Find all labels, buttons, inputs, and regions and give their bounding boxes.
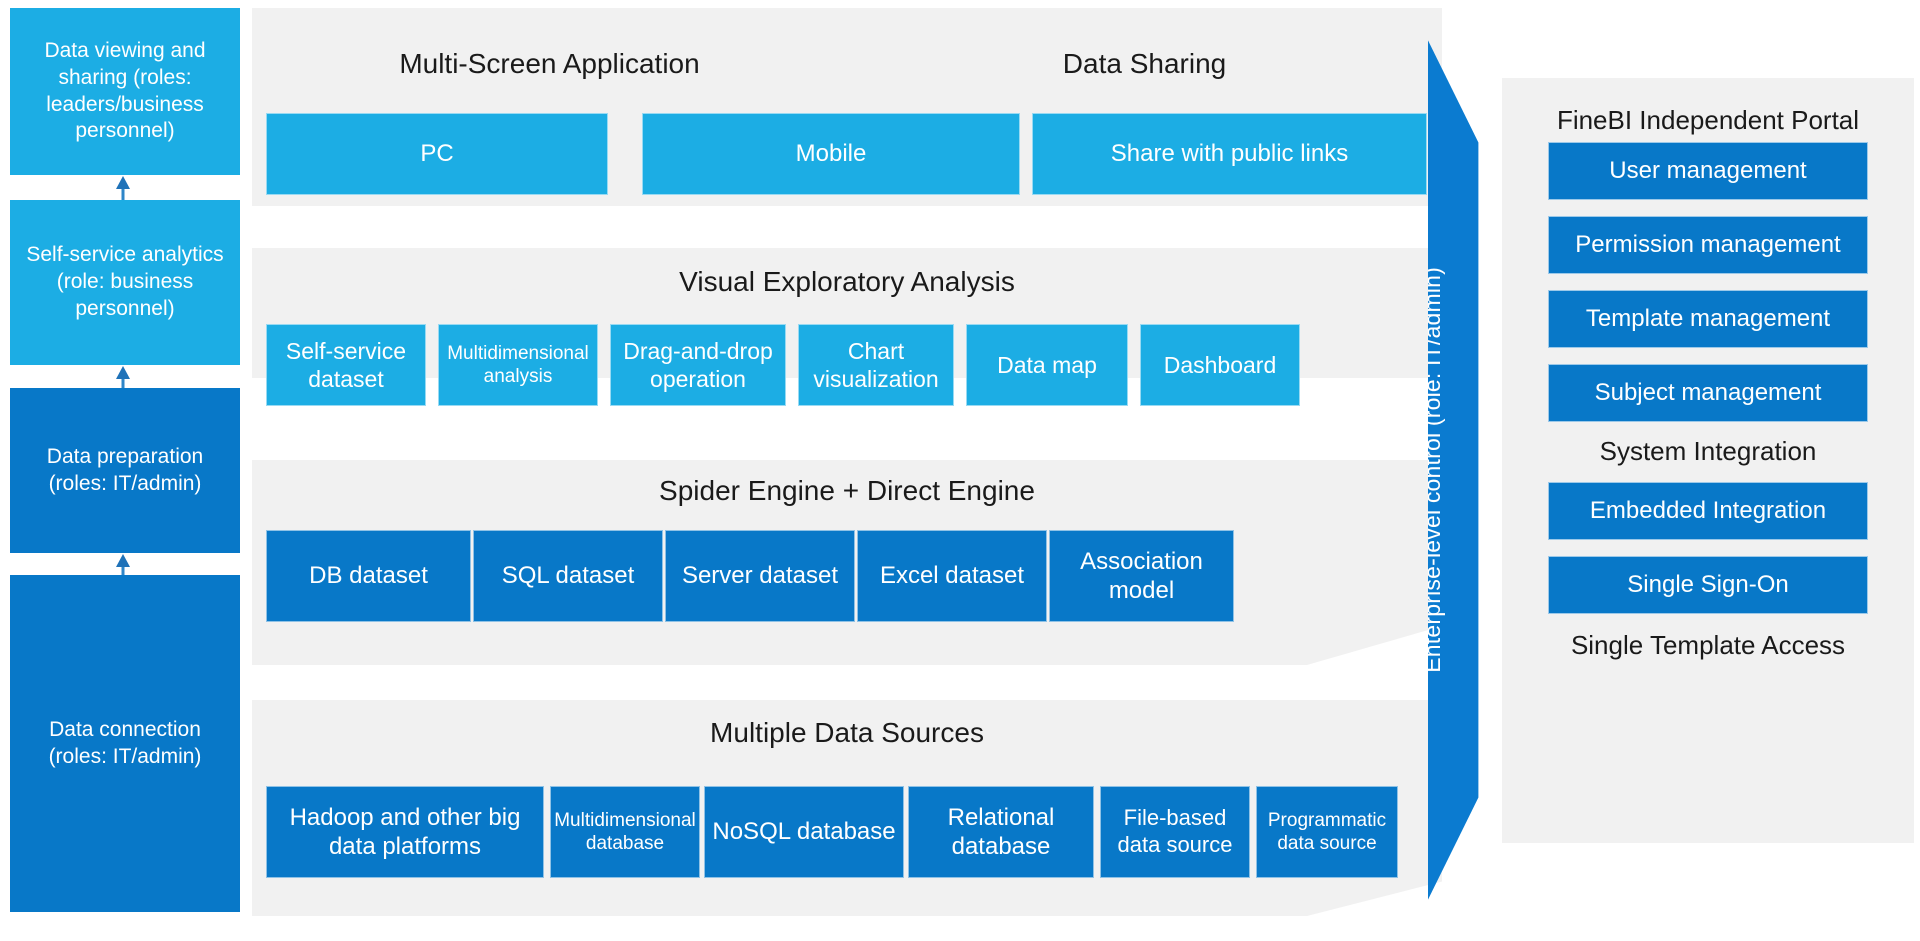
tile-hadoop-big-data[interactable]: Hadoop and other big data platforms xyxy=(266,786,544,878)
tile-mobile[interactable]: Mobile xyxy=(642,113,1020,195)
layer-panel-multi-screen-application: Multi-Screen Application Data Sharing PC… xyxy=(252,8,1442,206)
panel-title-multi-screen-application: Multi-Screen Application xyxy=(252,48,847,80)
tile-label: Mobile xyxy=(796,139,867,168)
tile-pc[interactable]: PC xyxy=(266,113,608,195)
panel-title-spider-engine: Spider Engine + Direct Engine xyxy=(252,475,1442,507)
tile-label: Share with public links xyxy=(1111,139,1348,168)
tile-label: Self-service dataset xyxy=(267,337,425,393)
tile-label: Multidimensional database xyxy=(551,809,699,855)
panel-title-multiple-data-sources: Multiple Data Sources xyxy=(252,717,1442,749)
side-tile-template-management[interactable]: Template management xyxy=(1548,290,1868,348)
side-tile-label: User management xyxy=(1609,157,1806,185)
layer-panel-spider-engine: Spider Engine + Direct Engine DB dataset… xyxy=(252,460,1442,665)
tile-label: Hadoop and other big data platforms xyxy=(267,803,543,862)
tile-label: Programmatic data source xyxy=(1257,809,1397,855)
side-tile-embedded-integration[interactable]: Embedded Integration xyxy=(1548,482,1868,540)
tile-label: NoSQL database xyxy=(712,817,895,846)
tile-label: Dashboard xyxy=(1164,351,1277,379)
panel-title-visual-exploratory-analysis: Visual Exploratory Analysis xyxy=(252,266,1442,298)
side-tile-label: Permission management xyxy=(1575,231,1840,259)
tile-association-model[interactable]: Association model xyxy=(1049,530,1234,622)
side-heading-system-integration: System Integration xyxy=(1502,436,1914,467)
side-tile-label: Single Sign-On xyxy=(1627,571,1788,599)
side-panel-governance: FineBI Independent Portal User managemen… xyxy=(1502,78,1914,843)
enterprise-level-control-chevron[interactable]: Enterprise-level control (role: IT/admin… xyxy=(1428,10,1498,930)
tile-drag-and-drop-operation[interactable]: Drag-and-drop operation xyxy=(610,324,786,406)
tile-server-dataset[interactable]: Server dataset xyxy=(665,530,855,622)
side-heading-single-template-access: Single Template Access xyxy=(1502,630,1914,661)
panel-title-data-sharing: Data Sharing xyxy=(847,48,1442,80)
layer-panel-visual-exploratory-analysis: Visual Exploratory Analysis Self-service… xyxy=(252,248,1442,378)
stage-data-viewing-sharing[interactable]: Data viewing and sharing (roles: leaders… xyxy=(10,8,240,175)
stage-label: Data viewing and sharing (roles: leaders… xyxy=(20,38,230,146)
stage-data-preparation[interactable]: Data preparation (roles: IT/admin) xyxy=(10,388,240,553)
tile-label: DB dataset xyxy=(309,561,428,590)
tile-label: SQL dataset xyxy=(502,561,635,590)
stage-label: Self-service analytics (role: business p… xyxy=(20,242,230,323)
tile-dashboard[interactable]: Dashboard xyxy=(1140,324,1300,406)
side-tile-label: Template management xyxy=(1586,305,1830,333)
tile-file-based-data-source[interactable]: File-based data source xyxy=(1100,786,1250,878)
tile-chart-visualization[interactable]: Chart visualization xyxy=(798,324,954,406)
side-tile-user-management[interactable]: User management xyxy=(1548,142,1868,200)
tile-label: Server dataset xyxy=(682,561,838,590)
stage-label: Data preparation (roles: IT/admin) xyxy=(20,444,230,498)
tile-label: Chart visualization xyxy=(799,337,953,393)
side-tile-label: Subject management xyxy=(1595,379,1822,407)
tile-label: Excel dataset xyxy=(880,561,1024,590)
tile-relational-database[interactable]: Relational database xyxy=(908,786,1094,878)
tile-db-dataset[interactable]: DB dataset xyxy=(266,530,471,622)
side-tile-label: Embedded Integration xyxy=(1590,497,1826,525)
tile-sql-dataset[interactable]: SQL dataset xyxy=(473,530,663,622)
tile-label: File-based data source xyxy=(1101,805,1249,859)
tile-self-service-dataset[interactable]: Self-service dataset xyxy=(266,324,426,406)
tile-multidimensional-analysis[interactable]: Multidimensional analysis xyxy=(438,324,598,406)
tile-label: PC xyxy=(420,139,453,168)
tile-label: Multidimensional analysis xyxy=(439,342,597,388)
tile-label: Drag-and-drop operation xyxy=(611,337,785,393)
layer-panel-multiple-data-sources: Multiple Data Sources Hadoop and other b… xyxy=(252,700,1442,916)
tile-multidimensional-database[interactable]: Multidimensional database xyxy=(550,786,700,878)
architecture-diagram: Data viewing and sharing (roles: leaders… xyxy=(0,0,1920,941)
stage-self-service-analytics[interactable]: Self-service analytics (role: business p… xyxy=(10,200,240,365)
tile-label: Data map xyxy=(997,351,1097,379)
side-heading-finebi-independent-portal: FineBI Independent Portal xyxy=(1502,105,1914,136)
stage-data-connection[interactable]: Data connection (roles: IT/admin) xyxy=(10,575,240,912)
tile-nosql-database[interactable]: NoSQL database xyxy=(704,786,904,878)
side-tile-subject-management[interactable]: Subject management xyxy=(1548,364,1868,422)
stage-label: Data connection (roles: IT/admin) xyxy=(20,717,230,771)
side-tile-single-sign-on[interactable]: Single Sign-On xyxy=(1548,556,1868,614)
tile-share-public-links[interactable]: Share with public links xyxy=(1032,113,1427,195)
side-tile-permission-management[interactable]: Permission management xyxy=(1548,216,1868,274)
tile-label: Association model xyxy=(1050,547,1233,606)
tile-data-map[interactable]: Data map xyxy=(966,324,1128,406)
tile-excel-dataset[interactable]: Excel dataset xyxy=(857,530,1047,622)
tile-programmatic-data-source[interactable]: Programmatic data source xyxy=(1256,786,1398,878)
tile-label: Relational database xyxy=(909,803,1093,862)
chevron-label-wrap: Enterprise-level control (role: IT/admin… xyxy=(1428,10,1498,930)
